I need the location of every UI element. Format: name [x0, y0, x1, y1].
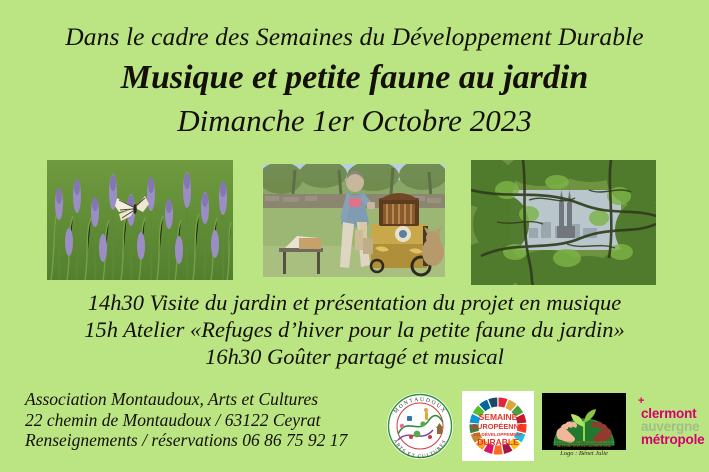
poster-kicker: Dans le cadre des Semaines du Développem…	[0, 22, 709, 52]
photo-lavender-butterfly	[47, 160, 233, 280]
contact-phone: Renseignements / réservations 06 86 75 9…	[25, 430, 395, 451]
programme-item-1630: 16h30 Goûter partagé et musical	[0, 343, 709, 370]
programme-item-1430: 14h30 Visite du jardin et présentation d…	[0, 289, 709, 316]
montaudoux-arts-et-cultures-logo: MONTAUDOUX ARTS ET CULTURES	[381, 390, 459, 462]
clermont-auvergne-metropole-logo: + clermont auvergne métropole	[633, 396, 709, 446]
photo-barrel-organ	[263, 164, 445, 277]
poster-title: Musique et petite faune au jardin	[0, 59, 709, 97]
programme-list: 14h30 Visite du jardin et présentation d…	[0, 289, 709, 370]
semaine-europeenne-developpement-durable-logo: SEMAINE EUROPÉENNE DU DÉVELOPPEMENT DURA…	[462, 391, 534, 461]
svg-text:SEMAINE: SEMAINE	[479, 412, 518, 422]
contact-block: Association Montaudoux, Arts et Cultures…	[25, 389, 395, 451]
clermont-line-3: métropole	[641, 433, 709, 447]
contact-association: Association Montaudoux, Arts et Cultures	[25, 389, 395, 410]
svg-text:EUROPÉENNE: EUROPÉENNE	[472, 422, 524, 431]
svg-text:DU DÉVELOPPEMENT: DU DÉVELOPPEMENT	[473, 430, 522, 437]
poster: Dans le cadre des Semaines du Développem…	[0, 0, 709, 472]
programme-item-15h: 15h Atelier «Refuges d’hiver pour la pet…	[0, 316, 709, 343]
poster-subtitle: Dimanche 1er Octobre 2023	[0, 103, 709, 139]
logo-strip: MONTAUDOUX ARTS ET CULTURES	[381, 386, 709, 472]
svg-text:DE LA MÉTROPOLE CLERMONTOISE: DE LA MÉTROPOLE CLERMONTOISE	[557, 443, 612, 448]
association-des-jardins-familiaux-logo: ASSOCIATION DES JARDINS FAMILIAUX DE LA …	[542, 393, 626, 450]
photo-trees-cathedral	[471, 160, 656, 285]
svg-text:DURABLE: DURABLE	[477, 437, 519, 447]
contact-address: 22 chemin de Montaudoux / 63122 Ceyrat	[25, 410, 395, 431]
logo-credit-caption: Logo : Bénet Julie	[542, 450, 626, 457]
